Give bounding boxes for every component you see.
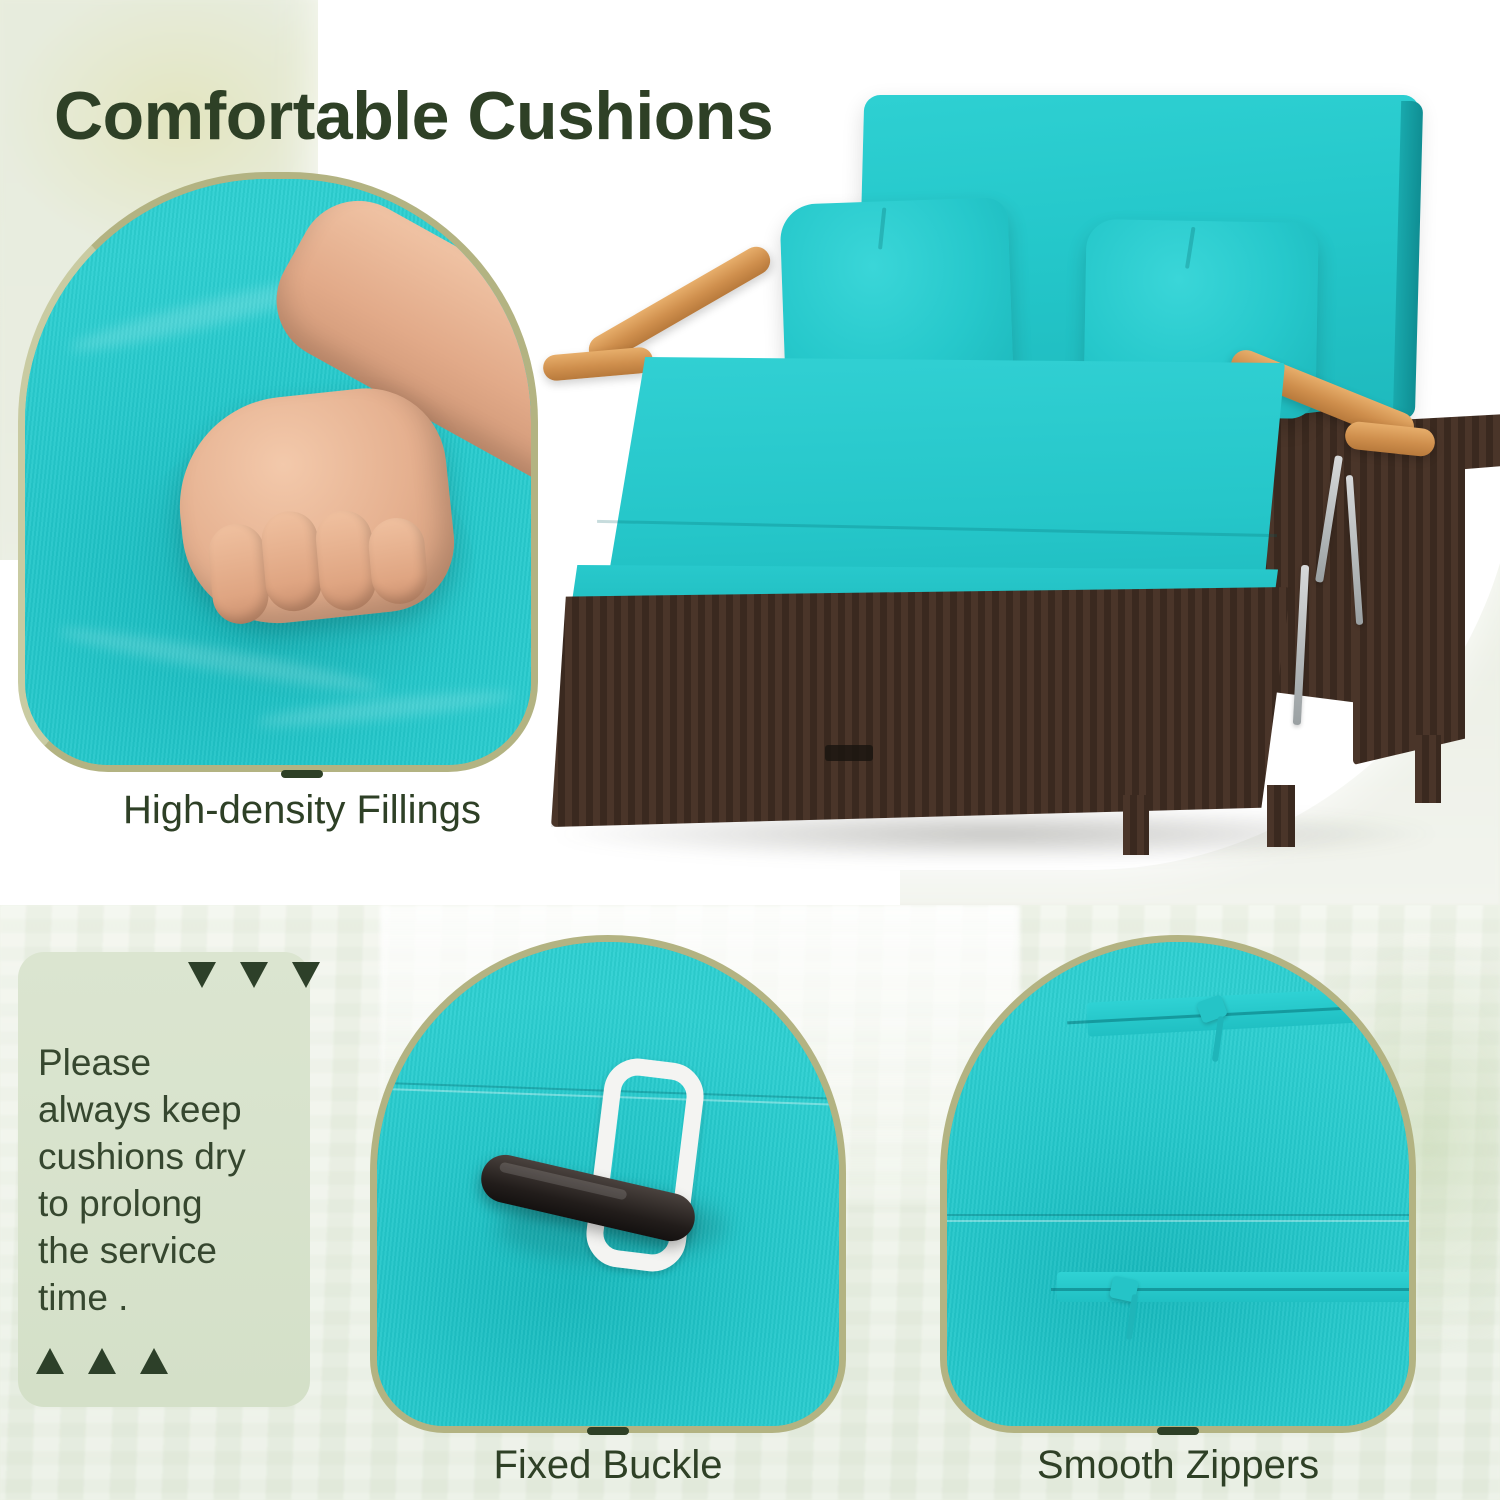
chevron-down-group: [188, 962, 320, 988]
chevron-up-icon: [140, 1348, 168, 1374]
page-title: Comfortable Cushions: [54, 77, 773, 155]
caption-smooth-zippers: Smooth Zippers: [958, 1443, 1398, 1488]
chevron-up-icon: [36, 1348, 64, 1374]
caption-dash-icon-1: [281, 770, 323, 778]
feature-image-high-density-fillings: [18, 172, 538, 772]
pillow-pinch: [1185, 227, 1196, 269]
wood-armrest-left-lower: [542, 346, 654, 381]
leg-left: [1123, 795, 1149, 855]
chevron-down-icon: [292, 962, 320, 988]
caption-fixed-buckle: Fixed Buckle: [388, 1443, 828, 1488]
wicker-base: [551, 587, 1291, 827]
product-daybed-image: [525, 95, 1485, 865]
caption-dash-icon-2: [587, 1427, 629, 1435]
chevron-down-icon: [188, 962, 216, 988]
infographic-page: Comfortable Cushions High-density Fillin…: [0, 0, 1500, 1500]
wicker-arm-right-outer: [1353, 435, 1465, 765]
caption-dash-icon-3: [1157, 1427, 1199, 1435]
chevron-up-icon: [88, 1348, 116, 1374]
pillow-pinch: [878, 207, 886, 249]
leg-right: [1267, 785, 1295, 847]
chevron-down-icon: [240, 962, 268, 988]
knuckle: [366, 516, 429, 607]
knuckles: [206, 500, 430, 628]
zipper-seam-bottom: [1051, 1288, 1416, 1291]
chevron-up-group: [36, 1348, 168, 1374]
cushion-seam-highlight: [947, 1220, 1416, 1222]
cushion-seam: [947, 1214, 1416, 1216]
care-note-text: Please always keep cushions dry to prolo…: [38, 1040, 308, 1322]
leg-right-outer: [1415, 735, 1441, 803]
brand-tag: [825, 745, 873, 761]
caption-high-density-fillings: High-density Fillings: [82, 788, 522, 833]
feature-image-smooth-zippers: [940, 935, 1416, 1433]
knuckle: [314, 508, 379, 613]
knuckle: [259, 509, 324, 614]
feature-image-fixed-buckle: [370, 935, 846, 1433]
